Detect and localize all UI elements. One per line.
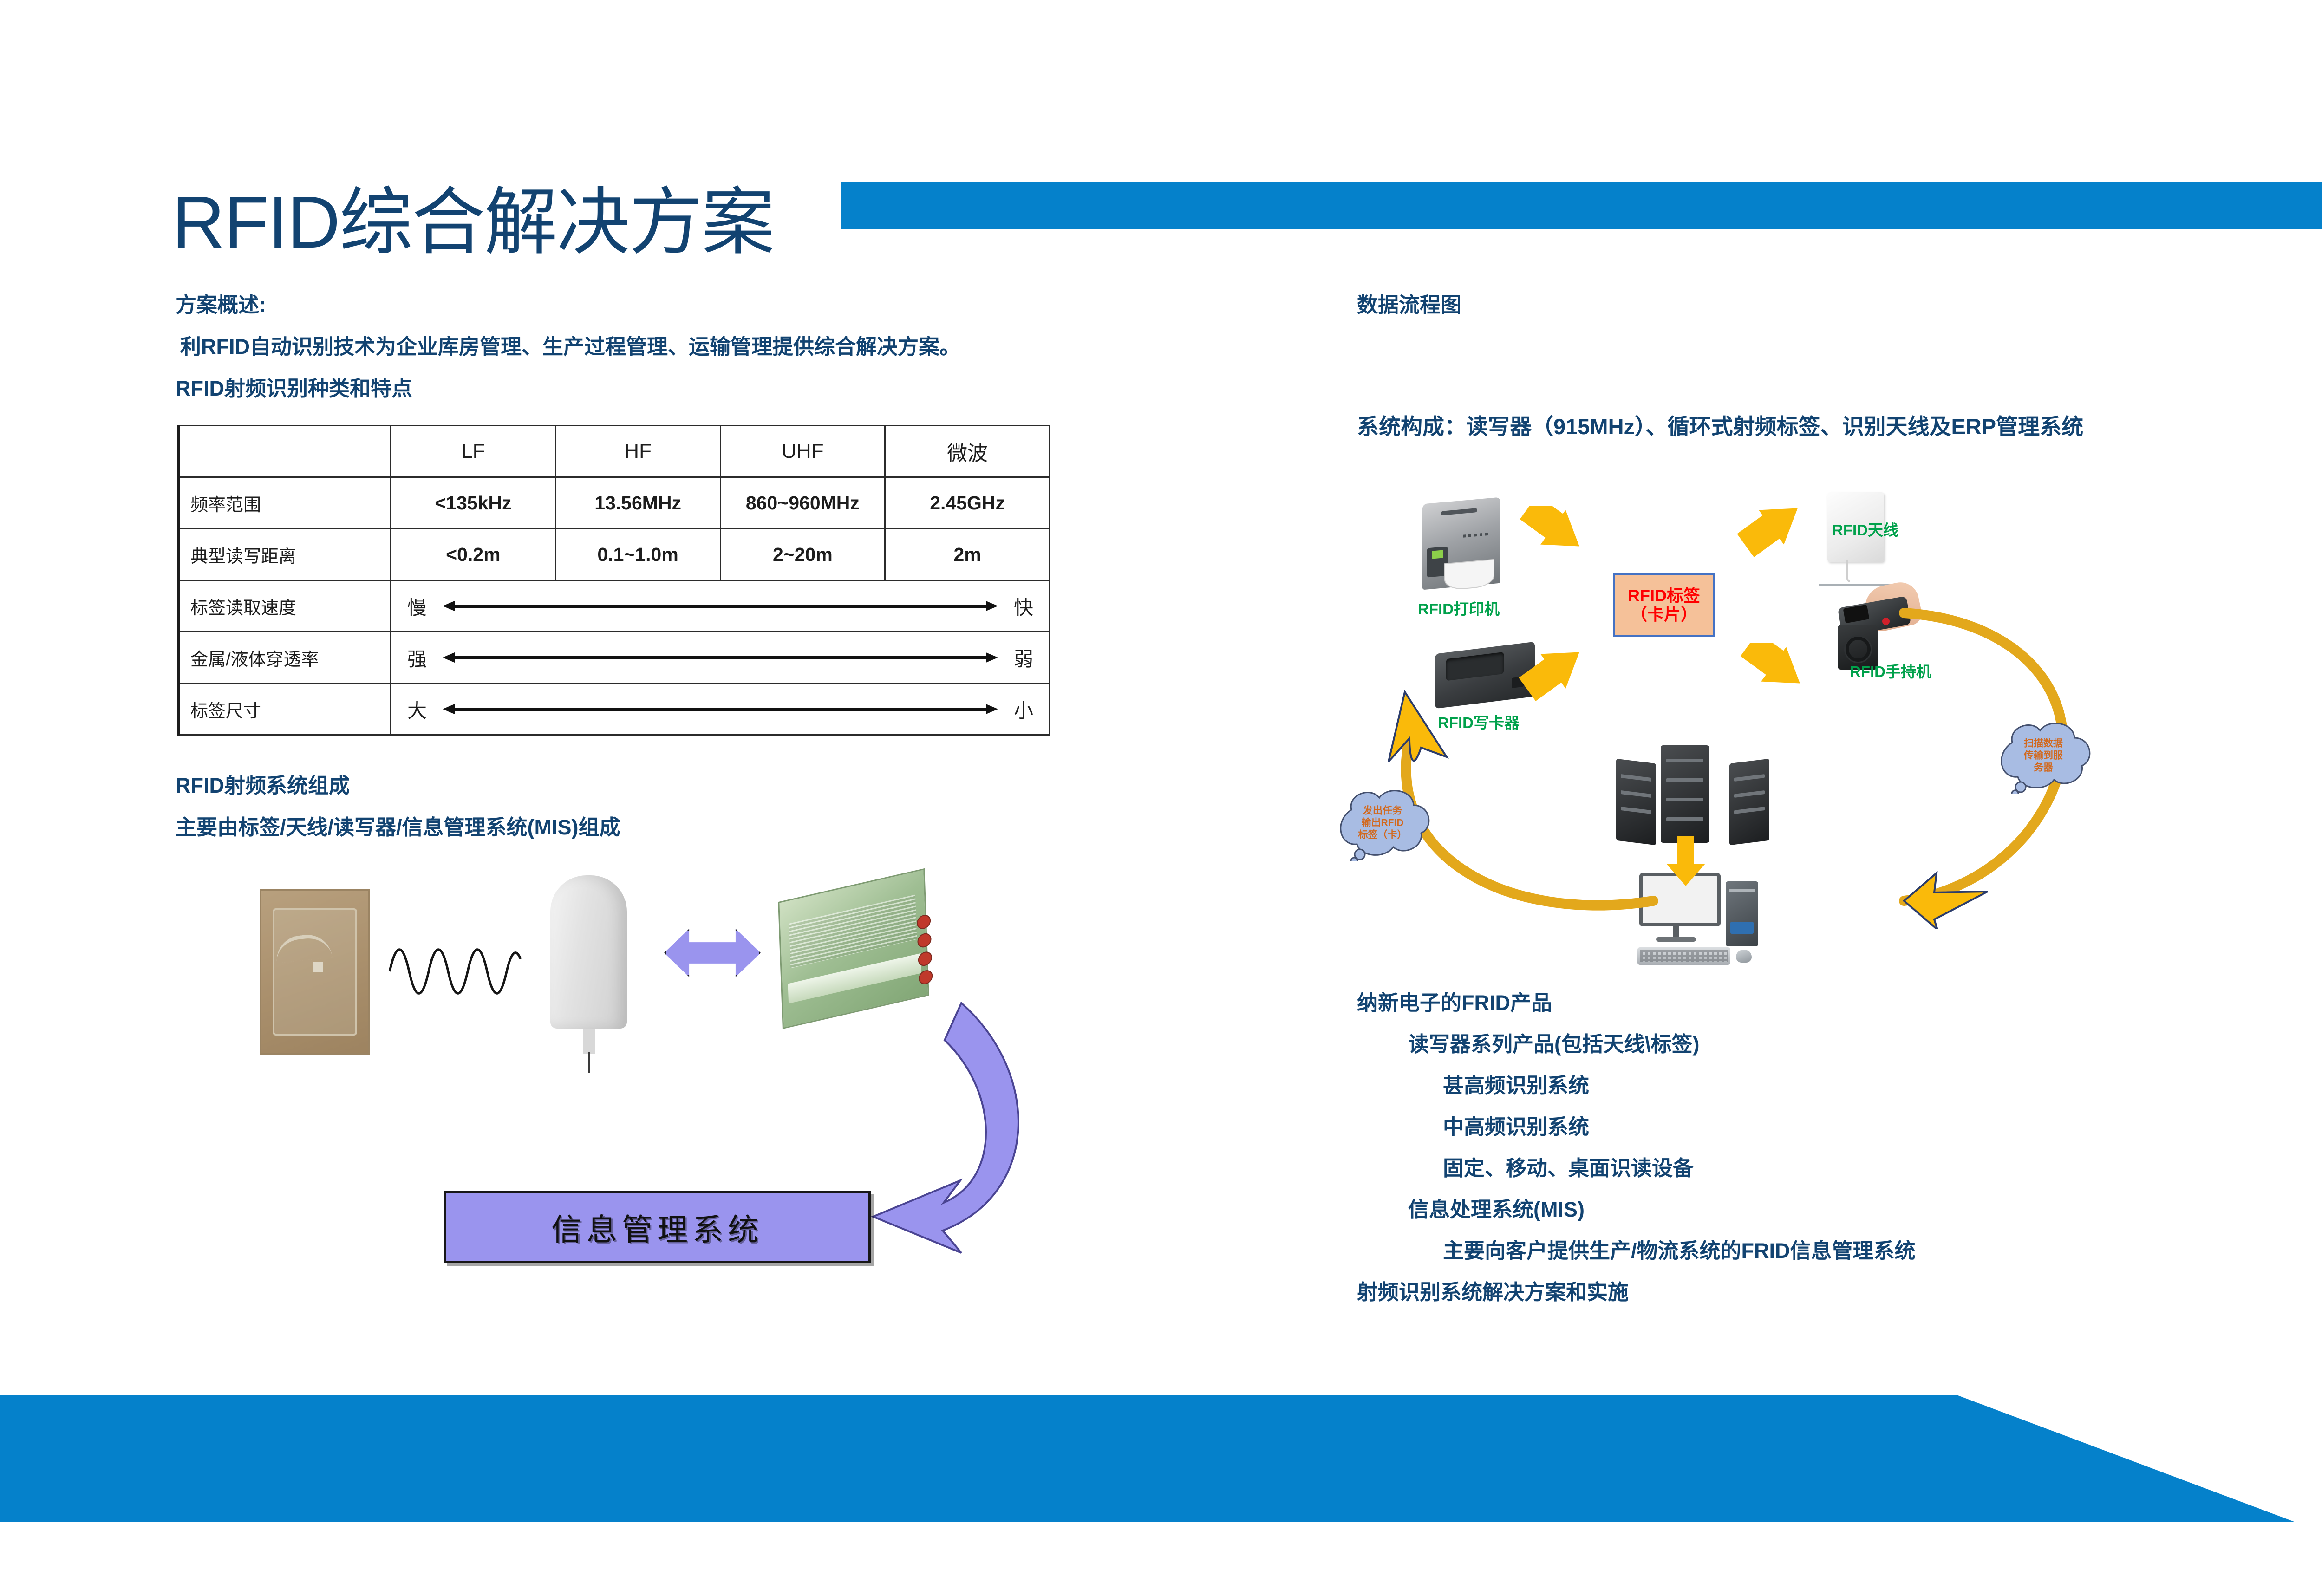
cell-distance-uhf: 2~20m <box>720 529 885 580</box>
column-header-hf: HF <box>555 426 720 477</box>
cloud-left: 发出任务 输出RFID 标签（卡） <box>1324 785 1441 861</box>
rfid-antenna-photo <box>550 875 627 1029</box>
product-bullet-list: 纳新电子的FRID产品 读写器系列产品(包括天线\标签) 甚高频识别系统 中高频… <box>1357 982 1916 1313</box>
cloud-right-line1: 扫描数据 <box>1985 737 2101 749</box>
cell-frequency-lf: <135kHz <box>391 477 556 529</box>
curved-down-arrow-icon <box>845 998 1040 1286</box>
table-row: 标签读取速度 慢 快 <box>179 580 1050 632</box>
cloud-right-line3: 务器 <box>1985 762 2101 774</box>
compose-body: 主要由标签/天线/读写器/信息管理系统(MIS)组成 <box>176 810 620 840</box>
range-right-tag-size: 小 <box>1014 695 1033 723</box>
table-row: 金属/液体穿透率 强 弱 <box>179 632 1050 684</box>
column-header-uhf: UHF <box>720 426 885 477</box>
range-right-read-speed: 快 <box>1014 592 1033 620</box>
cloud-left-line1: 发出任务 <box>1324 805 1441 817</box>
cloud-left-line2: 输出RFID <box>1324 817 1441 829</box>
overview-body: 利RFID自动识别技术为企业库房管理、生产过程管理、运输管理提供综合解决方案。 <box>180 330 960 360</box>
range-left-penetration: 强 <box>407 644 427 672</box>
cloud-left-line3: 标签（卡） <box>1324 829 1441 841</box>
row-label-distance: 典型读写距离 <box>179 529 391 580</box>
antenna-label: RFID天线 <box>1832 518 1898 540</box>
rfid-comparison-table: LF HF UHF 微波 频率范围 <135kHz 13.56MHz 860~9… <box>177 425 1050 736</box>
bidirectional-arrow-icon <box>664 929 757 973</box>
column-header-microwave: 微波 <box>885 426 1050 477</box>
table-row: 标签尺寸 大 小 <box>179 684 1050 735</box>
double-arrow-icon <box>443 601 998 611</box>
range-cell-penetration: 强 弱 <box>391 632 1050 684</box>
range-cell-read-speed: 慢 快 <box>391 580 1050 632</box>
arrow-down-right-icon <box>1739 643 1809 704</box>
printer-label: RFID打印机 <box>1418 597 1500 619</box>
radio-wave-icon <box>388 940 522 1003</box>
cell-frequency-hf: 13.56MHz <box>555 477 720 529</box>
cell-distance-lf: <0.2m <box>391 529 556 580</box>
system-makeup: 系统构成：读写器（915MHz）、循环式射频标签、识别天线及ERP管理系统 <box>1357 409 2083 441</box>
tag-box-line1: RFID标签 <box>1628 586 1700 605</box>
cell-distance-microwave: 2m <box>885 529 1050 580</box>
arrow-down-icon <box>1663 836 1709 887</box>
range-right-penetration: 弱 <box>1014 644 1033 672</box>
cell-distance-hf: 0.1~1.0m <box>555 529 720 580</box>
list-item: 中高频识别系统 <box>1357 1106 1916 1147</box>
kinds-heading: RFID射频识别种类和特点 <box>176 371 412 402</box>
cell-frequency-uhf: 860~960MHz <box>720 477 885 529</box>
mis-box-label: 信息管理系统 <box>551 1205 763 1250</box>
cloud-right: 扫描数据 传输到服 务器 <box>1985 717 2101 794</box>
table-row: 典型读写距离 <0.2m 0.1~1.0m 2~20m 2m <box>179 529 1050 580</box>
column-header-lf: LF <box>391 426 556 477</box>
row-label-frequency: 频率范围 <box>179 477 391 529</box>
row-label-read-speed: 标签读取速度 <box>179 580 391 632</box>
table-corner-cell <box>179 426 391 477</box>
rfid-tag-photo <box>260 889 370 1055</box>
tag-box-line2: （卡片） <box>1631 605 1697 624</box>
list-item: 固定、移动、桌面识读设备 <box>1357 1147 1916 1189</box>
compose-heading: RFID射频系统组成 <box>176 769 350 799</box>
page-title: RFID综合解决方案 <box>172 186 774 259</box>
table-row: 频率范围 <135kHz 13.56MHz 860~960MHz 2.45GHz <box>179 477 1050 529</box>
range-cell-tag-size: 大 小 <box>391 684 1050 735</box>
list-item: 主要向客户提供生产/物流系统的FRID信息管理系统 <box>1357 1230 1916 1271</box>
mis-box: 信息管理系统 <box>444 1191 871 1263</box>
overview-label: 方案概述: <box>176 288 266 318</box>
arrow-down-right-icon <box>1519 506 1588 567</box>
top-blue-band <box>841 182 2322 229</box>
bottom-blue-band <box>0 1395 2322 1522</box>
rfid-printer-icon <box>1422 497 1500 590</box>
list-item: 甚高频识别系统 <box>1357 1065 1916 1106</box>
dfd-heading: 数据流程图 <box>1357 288 1461 318</box>
row-label-tag-size: 标签尺寸 <box>179 684 391 735</box>
double-arrow-icon <box>443 652 998 663</box>
list-item: 纳新电子的FRID产品 <box>1357 982 1916 1023</box>
cloud-right-line2: 传输到服 <box>1985 749 2101 762</box>
range-left-read-speed: 慢 <box>407 592 427 620</box>
row-label-penetration: 金属/液体穿透率 <box>179 632 391 684</box>
table-header-row: LF HF UHF 微波 <box>179 426 1050 477</box>
double-arrow-icon <box>443 704 998 714</box>
slide-canvas: RFID综合解决方案 方案概述: 利RFID自动识别技术为企业库房管理、生产过程… <box>0 0 2322 1596</box>
cell-frequency-microwave: 2.45GHz <box>885 477 1050 529</box>
arrow-up-right-icon <box>1737 499 1807 560</box>
list-item: 读写器系列产品(包括天线\标签) <box>1357 1023 1916 1065</box>
list-item: 射频识别系统解决方案和实施 <box>1357 1271 1916 1313</box>
range-left-tag-size: 大 <box>407 695 427 723</box>
list-item: 信息处理系统(MIS) <box>1357 1189 1916 1230</box>
